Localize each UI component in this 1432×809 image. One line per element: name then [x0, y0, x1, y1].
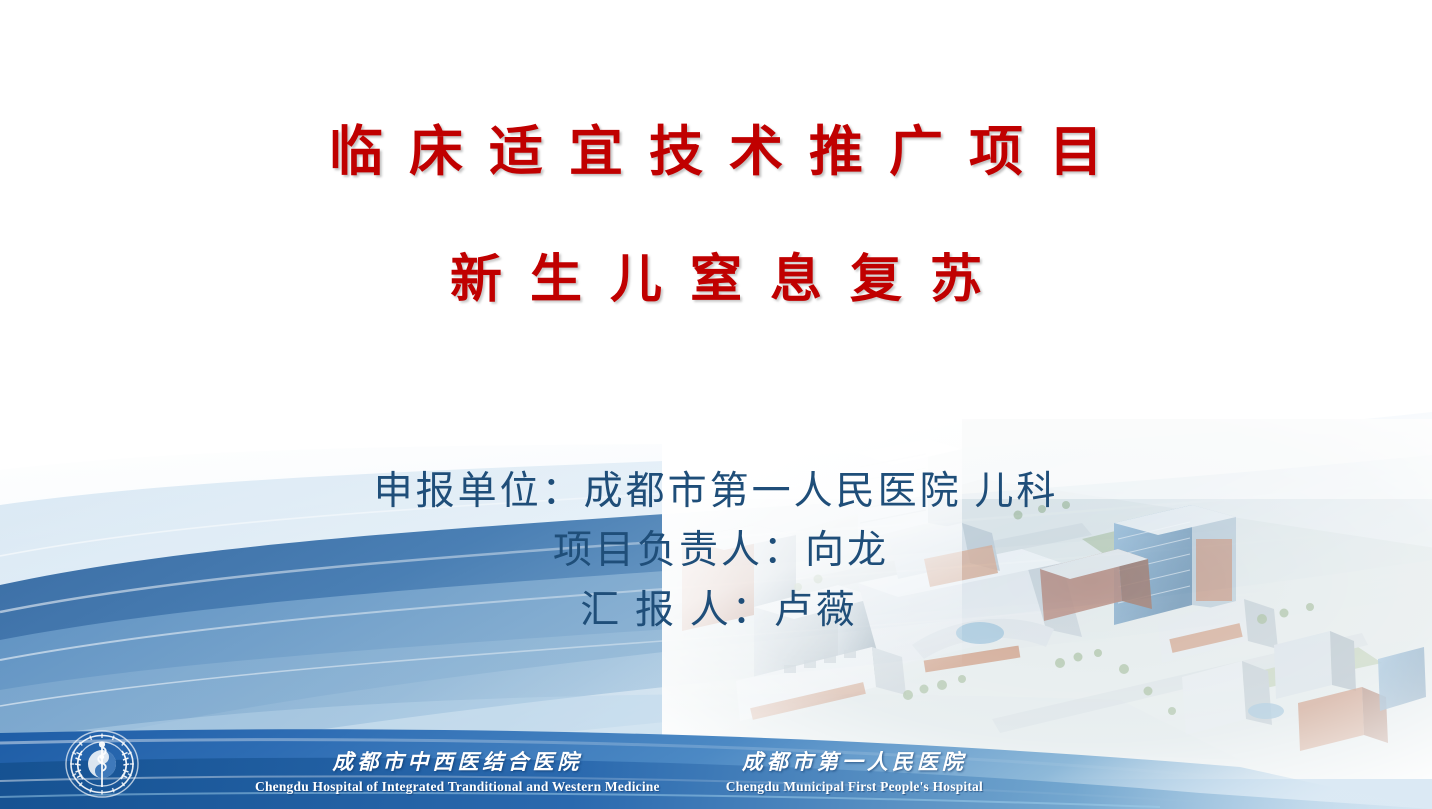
presenter-line: 汇 报 人：卢薇 [0, 581, 1432, 640]
applicant-unit-line: 申报单位：成都市第一人民医院 儿科 [0, 462, 1432, 521]
hospital-name-integrated: 成都市中西医结合医院 Chengdu Hospital of Integrate… [255, 746, 660, 795]
title-block: 临床适宜技术推广项目 新生儿窒息复苏 [0, 118, 1432, 313]
project-leader-line: 项目负责人：向龙 [0, 521, 1432, 580]
presentation-slide: 临床适宜技术推广项目 新生儿窒息复苏 申报单位：成都市第一人民医院 儿科 项目负… [0, 0, 1432, 809]
main-title: 临床适宜技术推广项目 [0, 118, 1432, 186]
hospital-a-en: Chengdu Hospital of Integrated Tranditio… [255, 779, 660, 795]
hospital-b-en: Chengdu Municipal First People's Hospita… [726, 779, 983, 795]
sub-title: 新生儿窒息复苏 [0, 248, 1432, 313]
hospital-emblem-logo [62, 727, 142, 801]
footer-hospital-names: 成都市中西医结合医院 Chengdu Hospital of Integrate… [255, 746, 983, 795]
hospital-name-first-people: 成都市第一人民医院 Chengdu Municipal First People… [726, 746, 983, 795]
hospital-a-cn: 成都市中西医结合医院 [255, 746, 660, 776]
hospital-b-cn: 成都市第一人民医院 [726, 746, 983, 776]
presenter-info-block: 申报单位：成都市第一人民医院 儿科 项目负责人：向龙 汇 报 人：卢薇 [0, 462, 1432, 640]
